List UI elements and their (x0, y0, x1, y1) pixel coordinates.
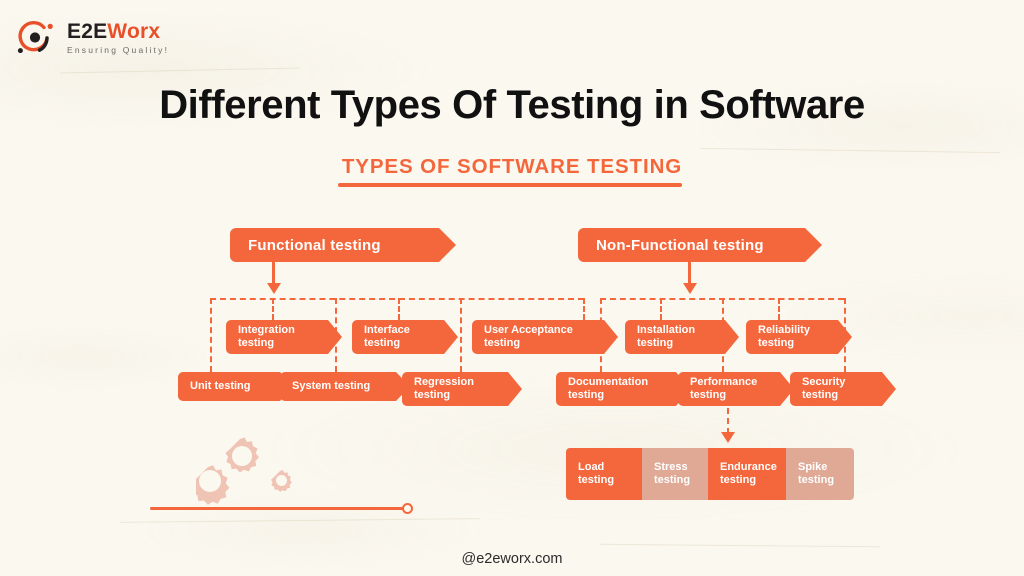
texture-scratch (120, 518, 480, 523)
chip-system-testing[interactable]: System testing (280, 372, 410, 401)
connector-arrow-functional (267, 283, 281, 294)
chip-unit-testing[interactable]: Unit testing (178, 372, 294, 401)
diagram-subtitle: TYPES OF SOFTWARE TESTING (0, 155, 1024, 179)
brand-tagline: Ensuring Quality! (67, 46, 169, 55)
connector-arrow-non-functional (683, 283, 697, 294)
bus-line-functional (210, 298, 584, 300)
drop-line-integration (272, 298, 274, 320)
chip-label: Reliability testing (758, 324, 830, 351)
chip-regression-testing[interactable]: Regression testing (402, 372, 522, 406)
branch-banner-functional[interactable]: Functional testing (230, 228, 456, 262)
perf-cell-stress-testing[interactable]: Stress testing (642, 448, 708, 500)
drop-line-user-acceptance (583, 298, 585, 320)
chip-label: Documentation testing (568, 376, 668, 403)
decorative-line-endpoint (402, 503, 413, 514)
gear-decoration (196, 425, 326, 505)
chip-performance-testing[interactable]: Performance testing (678, 372, 794, 406)
slide-canvas: E2EWorx Ensuring Quality! Different Type… (0, 0, 1024, 576)
perf-cell-spike-testing[interactable]: Spike testing (786, 448, 854, 500)
branch-banner-label: Non-Functional testing (596, 237, 764, 254)
chip-label: Security testing (802, 376, 874, 403)
chip-label: Installation testing (637, 324, 717, 351)
brand-name-primary: E2E (67, 20, 107, 43)
drop-line-unit (210, 298, 212, 372)
texture-scratch (600, 544, 880, 547)
perf-cell-endurance-testing[interactable]: Endurance testing (708, 448, 786, 500)
brand-logo-text: E2EWorx Ensuring Quality! (67, 21, 169, 55)
performance-types-row: Load testing Stress testing Endurance te… (566, 448, 854, 500)
chip-label: User Acceptance testing (484, 324, 596, 351)
drop-line-interface (398, 298, 400, 320)
chip-integration-testing[interactable]: Integration testing (226, 320, 342, 354)
perf-cell-label: Load testing (578, 461, 642, 488)
arrow-performance-types (721, 432, 735, 443)
chip-label: Regression testing (414, 376, 500, 403)
drop-line-documentation (600, 298, 602, 372)
chip-label: Performance testing (690, 376, 772, 403)
chip-user-acceptance-testing[interactable]: User Acceptance testing (472, 320, 618, 354)
decorative-line (150, 507, 408, 510)
chip-documentation-testing[interactable]: Documentation testing (556, 372, 690, 406)
texture-scratch (60, 67, 300, 73)
subtitle-underline (338, 183, 682, 187)
chip-label: Integration testing (238, 324, 320, 351)
branch-banner-non-functional[interactable]: Non-Functional testing (578, 228, 822, 262)
chip-label: Unit testing (190, 380, 251, 393)
branch-banner-label: Functional testing (248, 237, 381, 254)
chip-interface-testing[interactable]: Interface testing (352, 320, 458, 354)
texture-scratch (700, 148, 1000, 153)
drop-line-regression (460, 298, 462, 372)
brand-logo[interactable]: E2EWorx Ensuring Quality! (14, 18, 169, 58)
perf-cell-label: Spike testing (798, 461, 854, 488)
brand-name-secondary: Worx (107, 20, 160, 43)
chip-label: System testing (292, 380, 370, 393)
drop-line-performance-types (727, 408, 729, 434)
e2eworx-circle-logo-icon (14, 18, 58, 58)
perf-cell-load-testing[interactable]: Load testing (566, 448, 642, 500)
page-title: Different Types Of Testing in Software (0, 83, 1024, 128)
chip-reliability-testing[interactable]: Reliability testing (746, 320, 852, 354)
drop-line-installation (660, 298, 662, 320)
chip-installation-testing[interactable]: Installation testing (625, 320, 739, 354)
drop-line-reliability (778, 298, 780, 320)
perf-cell-label: Stress testing (654, 461, 708, 488)
perf-cell-label: Endurance testing (720, 461, 786, 488)
chip-security-testing[interactable]: Security testing (790, 372, 896, 406)
footer-handle: @e2eworx.com (0, 551, 1024, 567)
chip-label: Interface testing (364, 324, 436, 351)
